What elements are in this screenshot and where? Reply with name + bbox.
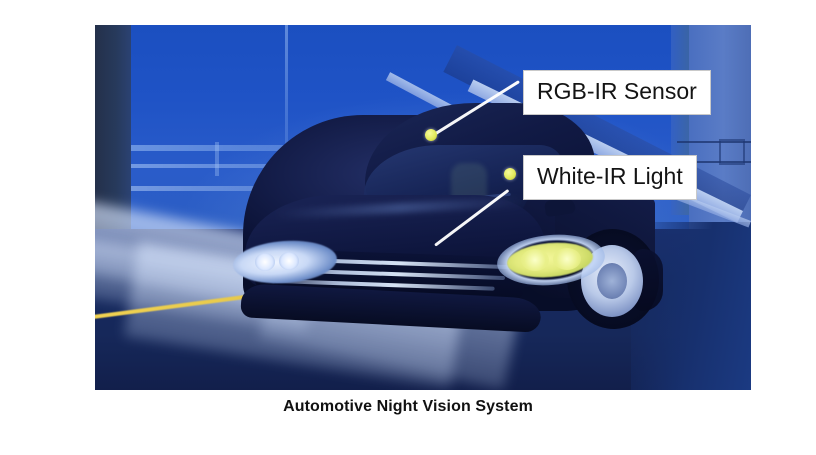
headlight-right-lamp — [521, 249, 549, 271]
callout-label-white-ir-light[interactable]: White-IR Light — [523, 155, 697, 200]
night-vision-photo: RGB-IR Sensor White-IR Light — [95, 25, 751, 390]
callout-label-rgb-ir-sensor[interactable]: RGB-IR Sensor — [523, 70, 711, 115]
fence-brace-icon — [719, 139, 745, 165]
headlight-left-lamp — [279, 252, 299, 270]
headlight-right-lamp — [553, 248, 581, 270]
wheel-hub — [597, 263, 627, 299]
figure-caption: Automotive Night Vision System — [0, 398, 816, 416]
marker-dot-rgb-ir-sensor — [425, 129, 437, 141]
marker-dot-white-ir-light — [504, 168, 516, 180]
page-root: RGB-IR Sensor White-IR Light Automotive … — [0, 0, 816, 455]
headlight-left-lamp — [255, 253, 275, 271]
